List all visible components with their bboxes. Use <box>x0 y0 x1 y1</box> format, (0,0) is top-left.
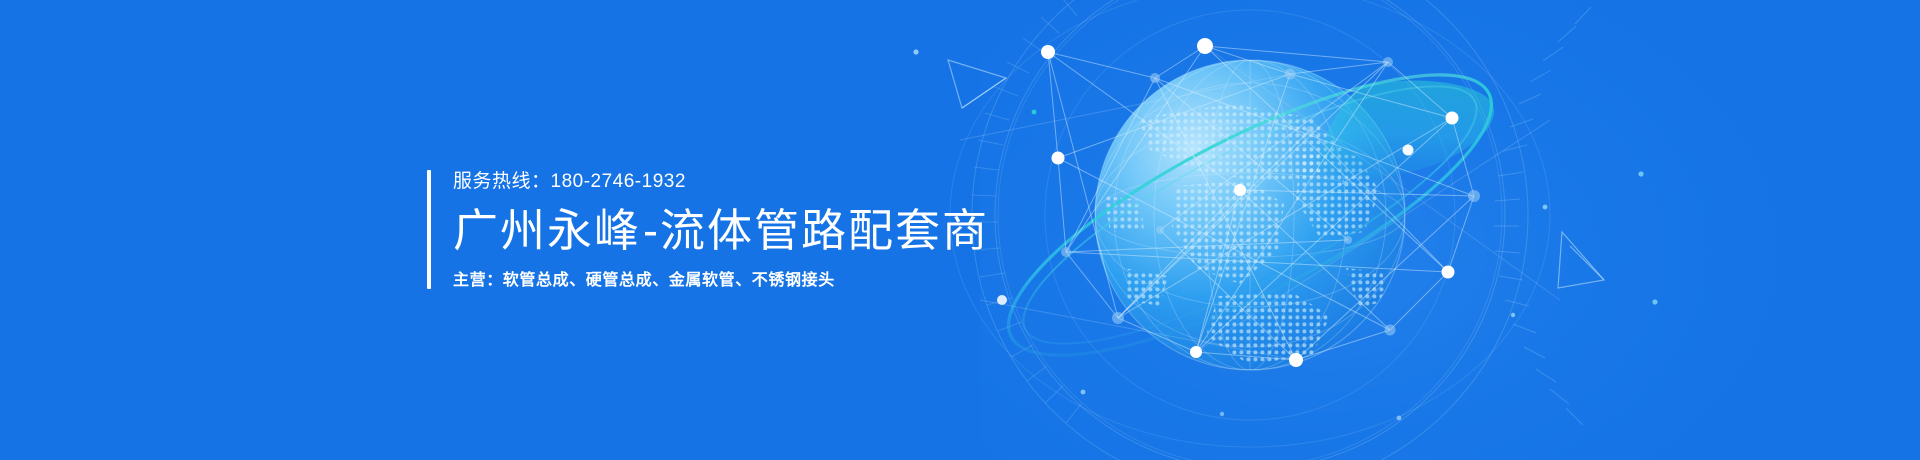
text-lines: 服务热线：180-2746-1932 广州永峰-流体管路配套商 主营：软管总成、… <box>431 170 989 289</box>
headline-block: 服务热线：180-2746-1932 广州永峰-流体管路配套商 主营：软管总成、… <box>427 170 989 289</box>
service-hotline: 服务热线：180-2746-1932 <box>453 172 989 191</box>
headline-dash: - <box>641 205 660 256</box>
hero-banner: 服务热线：180-2746-1932 广州永峰-流体管路配套商 主营：软管总成、… <box>0 0 1920 460</box>
page-title: 广州永峰-流体管路配套商 <box>453 208 989 253</box>
business-scope: 主营：软管总成、硬管总成、金属软管、不锈钢接头 <box>453 273 989 289</box>
headline-company: 广州永峰 <box>453 205 641 256</box>
headline-tagline: 流体管路配套商 <box>660 205 989 256</box>
